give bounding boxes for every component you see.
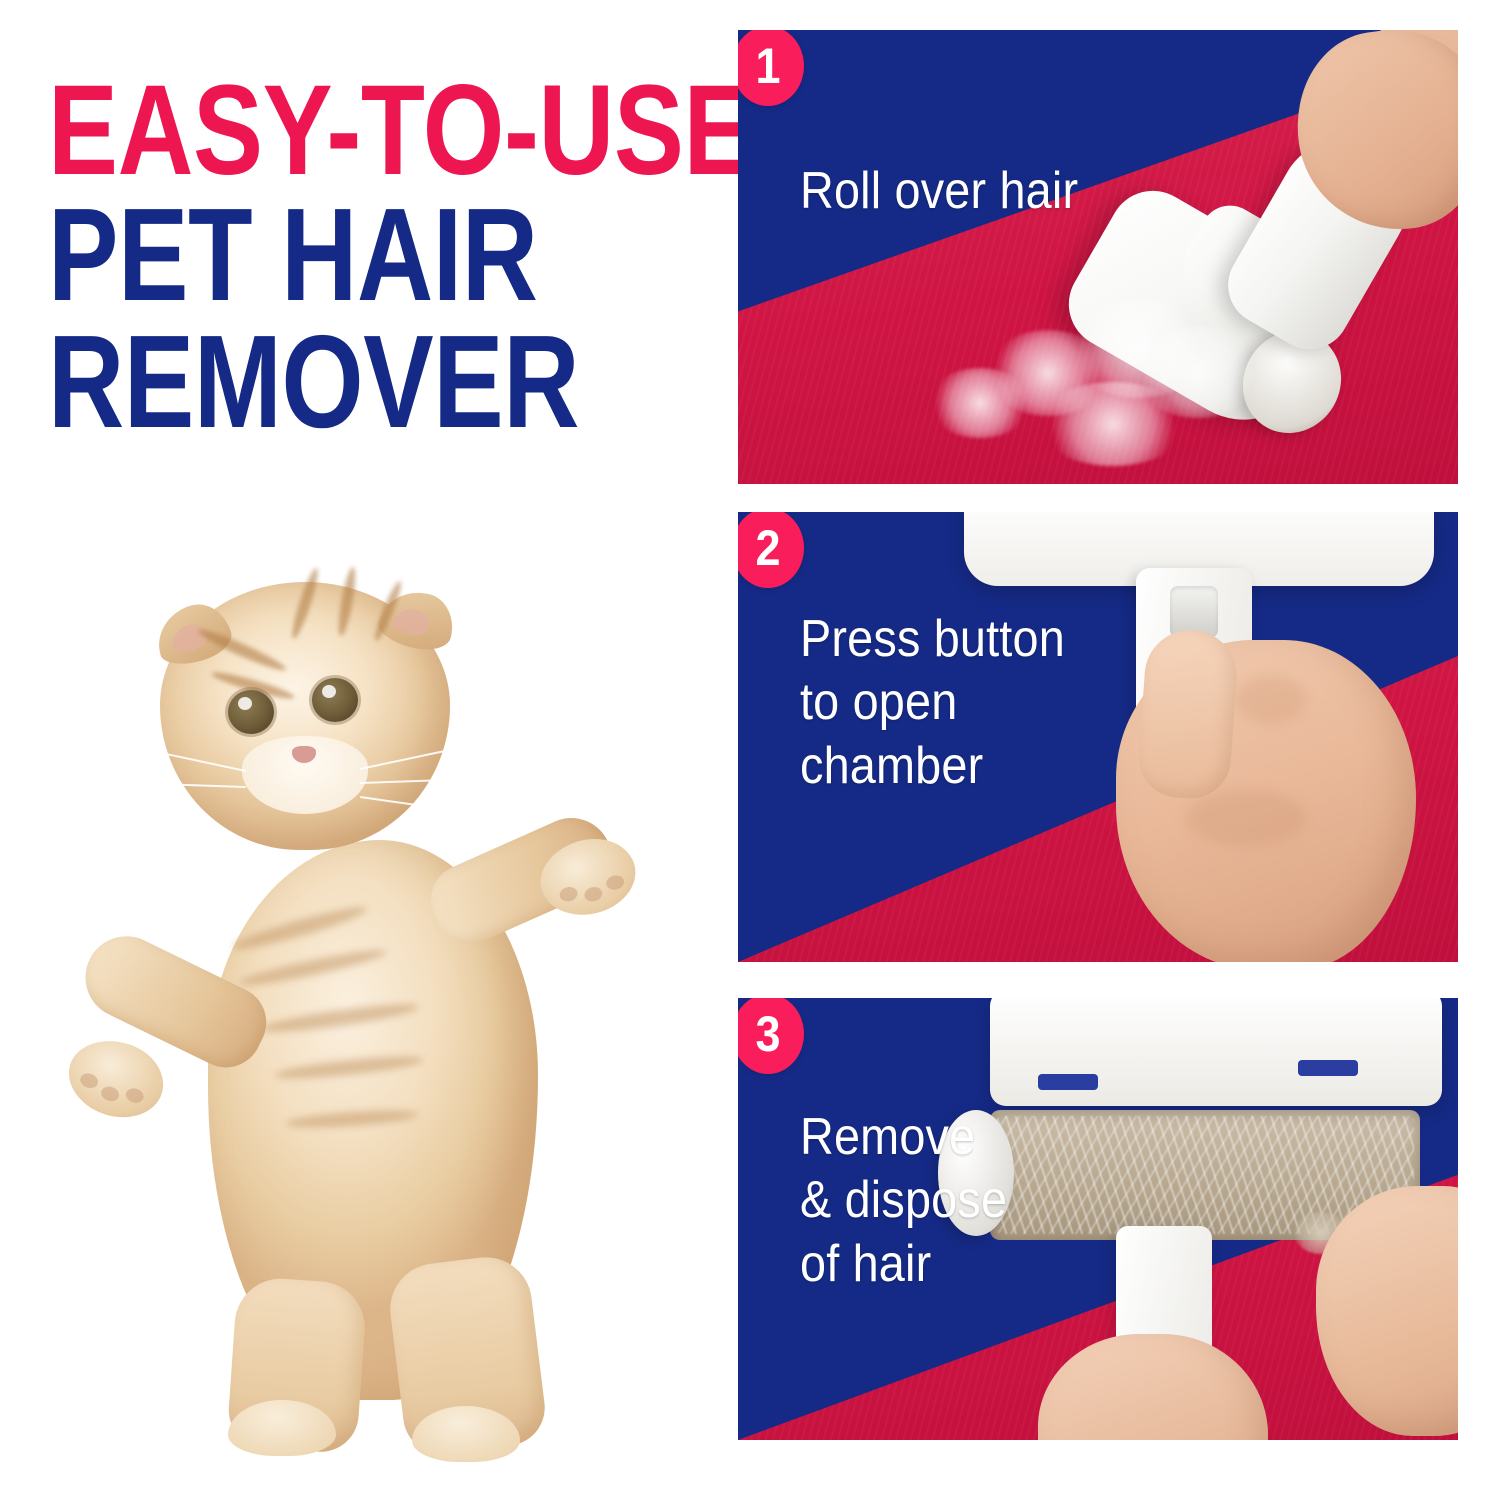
step-1-caption: Roll over hair (800, 160, 1078, 223)
pet-hair-clump (928, 368, 1032, 438)
cat-toe-pad (99, 1084, 120, 1103)
cat-toe-pad (605, 874, 626, 892)
step-3-badge: 3 (738, 998, 804, 1074)
hero-cat-image (60, 540, 690, 1450)
cat-left-paw (59, 1029, 173, 1129)
cat-illustration (60, 540, 690, 1450)
headline-line-3: REMOVER (48, 321, 576, 442)
lid-hinge-left (1038, 1074, 1098, 1090)
knuckle-shading (1236, 676, 1306, 724)
step-2-badge: 2 (738, 512, 804, 588)
cat-ear-inner (391, 605, 432, 639)
cat-right-eye (312, 678, 358, 722)
page-title: EASY-TO-USE PET HAIR REMOVER (48, 72, 708, 443)
step-panel-2: Press button to open chamber 2 (738, 512, 1458, 962)
step-panel-3: Remove & dispose of hair 3 (738, 998, 1458, 1440)
pet-hair-clump (1038, 382, 1188, 466)
headline-line-1: EASY-TO-USE (48, 72, 589, 190)
knuckle-shading (1186, 790, 1306, 846)
step-2-caption: Press button to open chamber (800, 608, 1065, 798)
cat-left-eye (228, 690, 274, 734)
step-1-badge: 1 (738, 30, 804, 106)
cat-ear-inner (168, 621, 210, 656)
cat-toe-pad (583, 885, 604, 903)
headline-line-2: PET HAIR (48, 194, 576, 315)
cat-toe-pad (558, 885, 579, 903)
lid-hinge-right (1298, 1060, 1358, 1076)
step-3-caption: Remove & dispose of hair (800, 1106, 1007, 1296)
user-thumb-on-button (1136, 627, 1239, 801)
cat-toe-pad (78, 1071, 99, 1090)
step-panel-1: Roll over hair 1 (738, 30, 1458, 484)
cat-toe-pad (124, 1086, 145, 1105)
